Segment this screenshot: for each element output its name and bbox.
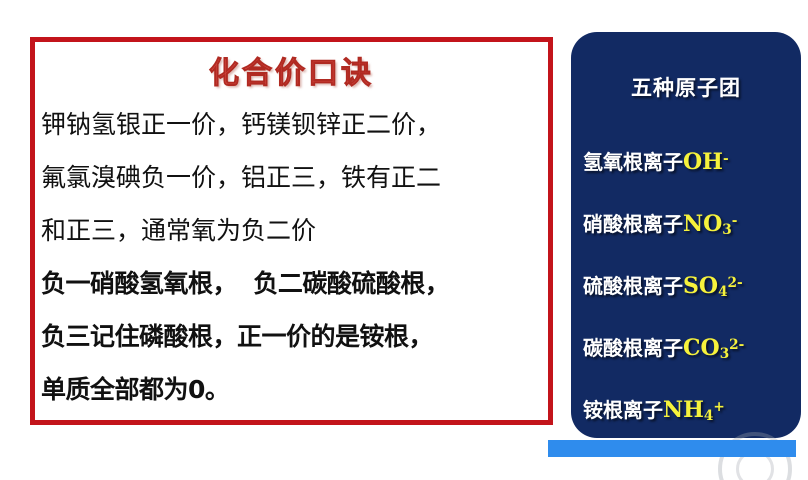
verse-line: 负三记住磷酸根，正一价的是铵根， [41, 310, 544, 363]
formula-superscript: - [732, 213, 738, 229]
bottom-accent-bar [548, 440, 796, 457]
verse-line: 钾钠氢银正一价，钙镁钡锌正二价， [41, 98, 544, 151]
formula-base: NO [683, 211, 722, 237]
formula-subscript: 3 [720, 346, 729, 362]
ion-formula: NH4+ [663, 397, 725, 423]
ion-formula: OH- [683, 149, 729, 175]
verse-line: 和正三，通常氧为负二价 [41, 204, 544, 257]
ion-panel-heading: 五种原子团 [571, 72, 801, 102]
ion-name: 硫酸根离子 [583, 274, 683, 298]
ion-formula: NO3- [683, 211, 737, 237]
list-item: 铵根离子NH4+ [583, 376, 795, 438]
ion-name: 碳酸根离子 [583, 336, 683, 360]
verse-line: 氟氯溴碘负一价，铝正三，铁有正二 [41, 151, 544, 204]
formula-subscript: 4 [718, 284, 727, 300]
list-item: 碳酸根离子CO32- [583, 314, 795, 376]
ion-name: 氢氧根离子 [583, 150, 683, 174]
formula-superscript: + [713, 399, 724, 415]
formula-subscript: 3 [722, 222, 731, 238]
ion-list: 氢氧根离子OH- 硝酸根离子NO3- 硫酸根离子SO42- 碳酸根离子CO32-… [583, 128, 795, 438]
list-item: 硫酸根离子SO42- [583, 252, 795, 314]
valence-verse-card: 化合价口诀 钾钠氢银正一价，钙镁钡锌正二价， 氟氯溴碘负一价，铝正三，铁有正二 … [30, 37, 553, 425]
verse-line-list: 钾钠氢银正一价，钙镁钡锌正二价， 氟氯溴碘负一价，铝正三，铁有正二 和正三，通常… [41, 98, 544, 416]
formula-base: NH [663, 397, 704, 423]
formula-superscript: 2- [729, 337, 744, 353]
polyatomic-ion-panel: 五种原子团 氢氧根离子OH- 硝酸根离子NO3- 硫酸根离子SO42- 碳酸根离… [571, 32, 801, 438]
ion-formula: CO32- [683, 335, 744, 361]
formula-base: CO [683, 335, 720, 361]
page-title: 化合价口诀 [35, 48, 548, 92]
list-item: 硝酸根离子NO3- [583, 190, 795, 252]
list-item: 氢氧根离子OH- [583, 128, 795, 190]
formula-base: SO [683, 273, 718, 299]
verse-line: 负一硝酸氢氧根， 负二碳酸硫酸根， [41, 257, 544, 310]
formula-superscript: - [723, 151, 729, 167]
ion-formula: SO42- [683, 273, 743, 299]
formula-subscript: 4 [704, 408, 713, 424]
slide-canvas: 化合价口诀 钾钠氢银正一价，钙镁钡锌正二价， 氟氯溴碘负一价，铝正三，铁有正二 … [0, 0, 808, 480]
verse-line: 单质全部都为0。 [41, 363, 544, 416]
formula-base: OH [683, 149, 723, 175]
ion-name: 硝酸根离子 [583, 212, 683, 236]
formula-superscript: 2- [728, 275, 743, 291]
ion-name: 铵根离子 [583, 398, 663, 422]
